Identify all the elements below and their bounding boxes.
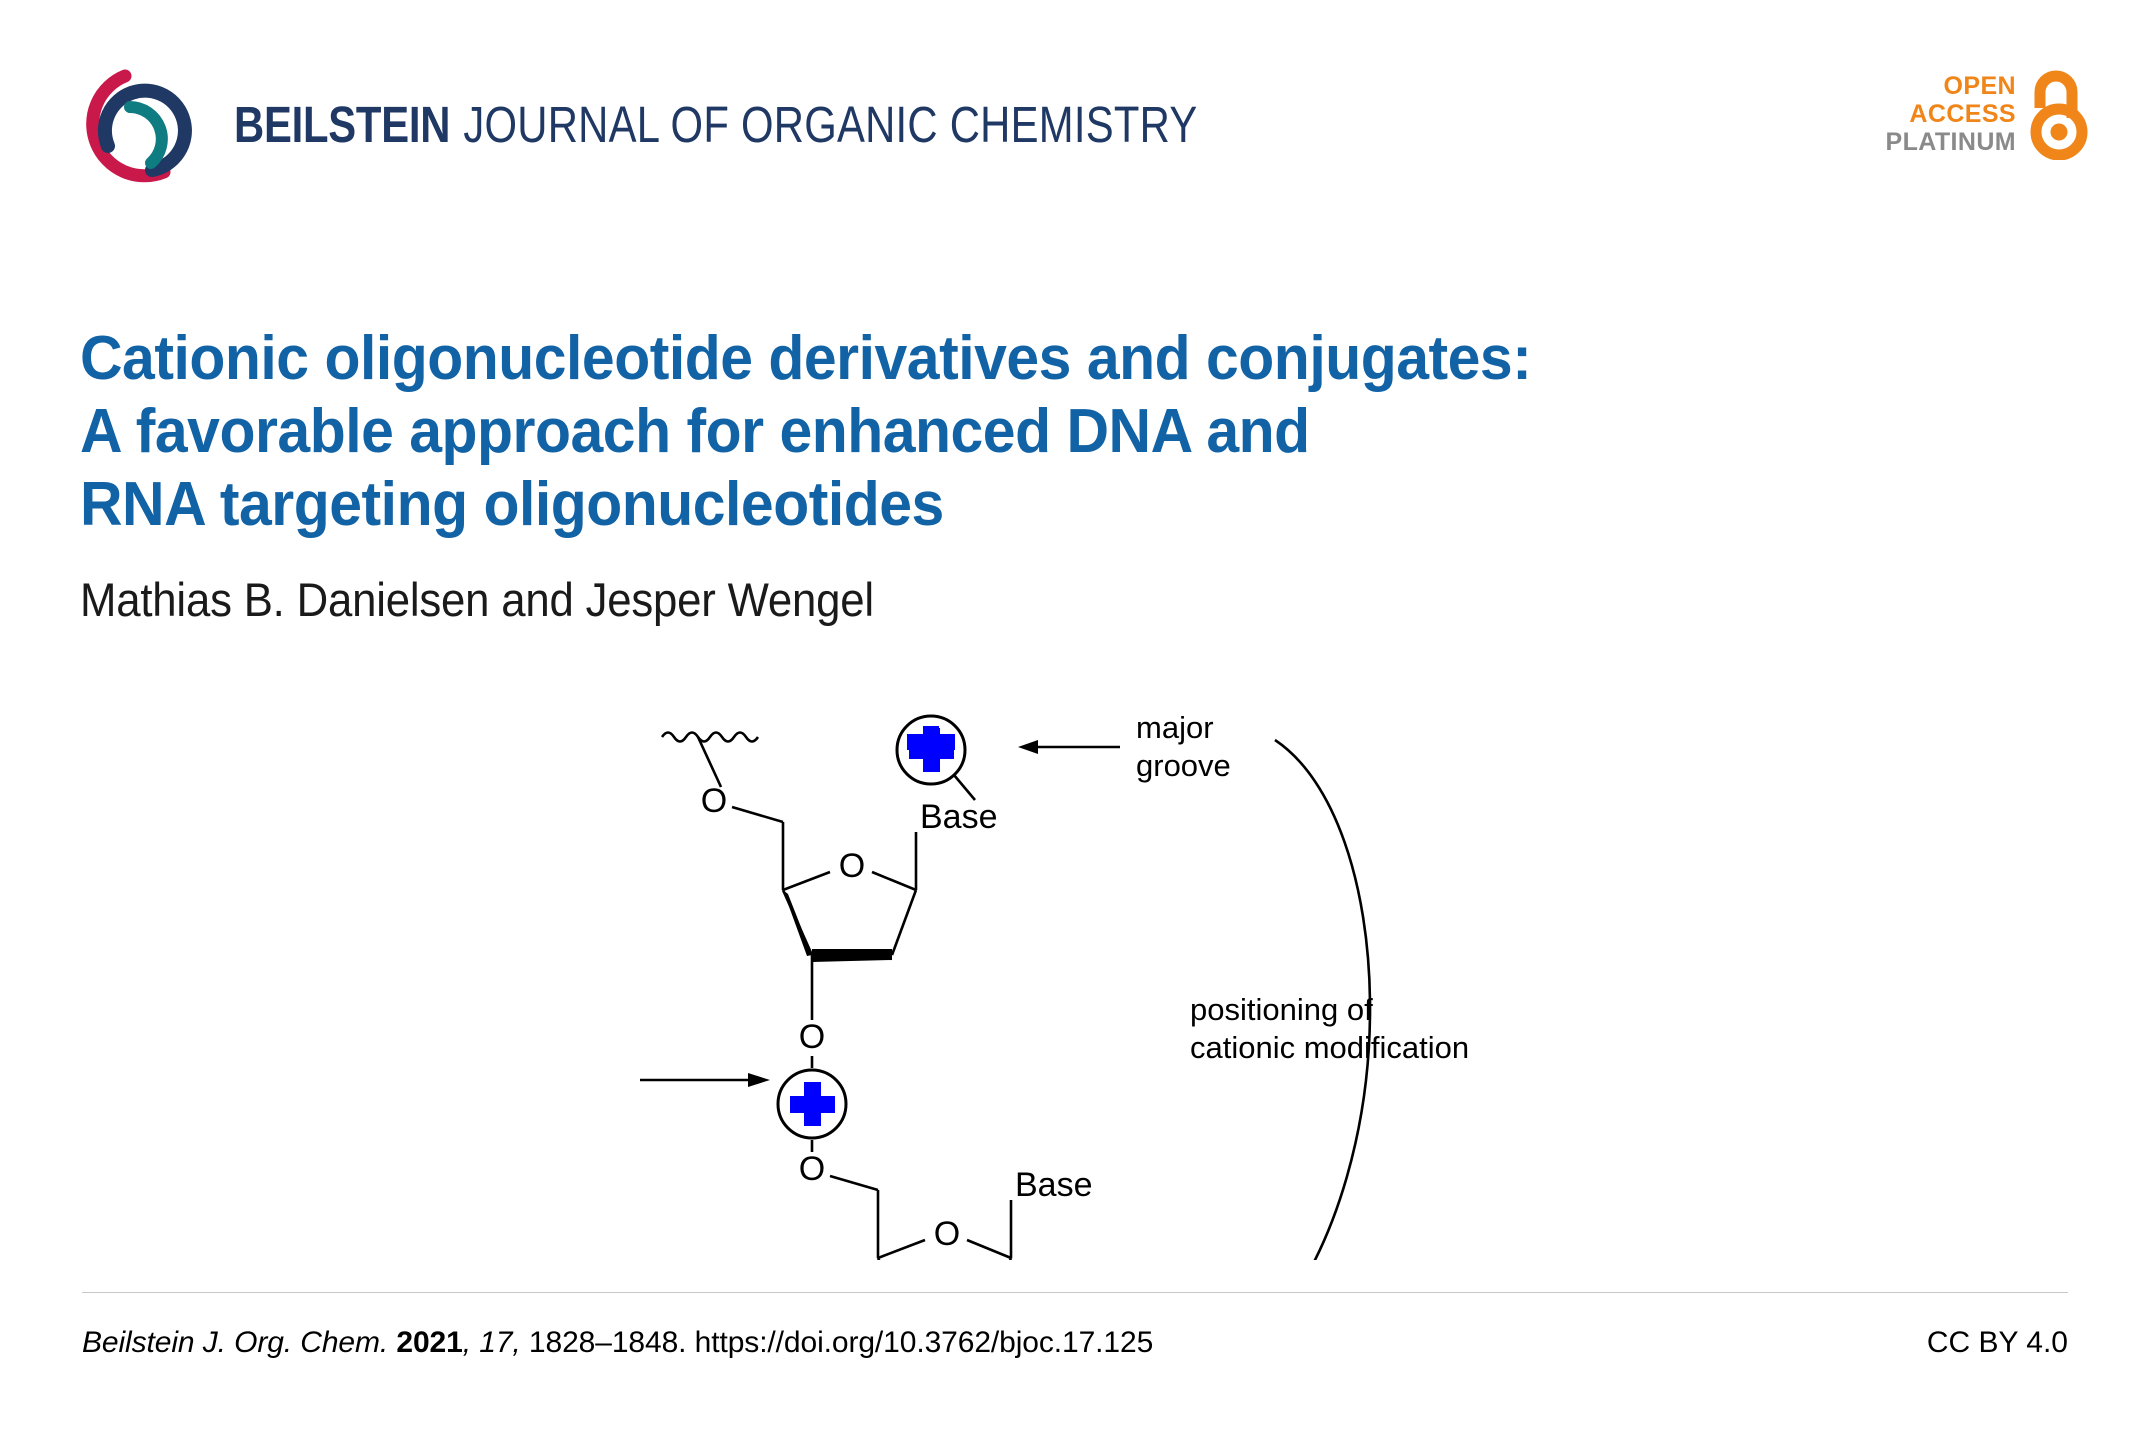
bond-c4-o4-top — [783, 872, 830, 890]
base-label-top: Base — [920, 798, 998, 836]
atom-o-ring-bottom: O — [934, 1215, 960, 1253]
title-line-2: A favorable approach for enhanced DNA an… — [80, 395, 1743, 468]
wedge-c4-c3-bottom — [878, 1258, 907, 1260]
arrowhead-major-groove — [1018, 740, 1038, 754]
wordmark-subtitle: JOURNAL OF ORGANIC CHEMISTRY — [450, 95, 1197, 154]
atom-o3prime-top: O — [799, 1018, 825, 1056]
wavy-bond-top — [662, 733, 758, 742]
bond-c1-c2-bottom — [987, 1258, 1011, 1260]
title-line-1: Cationic oligonucleotide derivatives and… — [80, 322, 1743, 395]
beilstein-spiral-logo-icon — [78, 60, 206, 188]
base-label-bottom: Base — [1015, 1166, 1093, 1204]
bond-c1-c2-top — [892, 890, 916, 955]
journal-brand[interactable]: BEILSTEIN JOURNAL OF ORGANIC CHEMISTRY — [78, 60, 1409, 188]
bold-bond-c2-c3-top — [812, 949, 892, 962]
graphical-abstract: O O Base — [620, 690, 1570, 1260]
citation-year: 2021 — [396, 1326, 462, 1359]
citation-journal: Beilstein J. Org. Chem. — [82, 1326, 388, 1359]
footer-divider — [82, 1292, 2068, 1293]
cation-marker-base-top — [897, 716, 975, 800]
label-positioning-line2: cationic modification — [1190, 1030, 1469, 1065]
label-major-groove-line2: groove — [1136, 748, 1231, 783]
annotation-cation-replaces-anion: cation replaces anion — [620, 1022, 770, 1133]
title-line-3: RNA targeting oligonucleotides — [80, 468, 1743, 541]
bond-o4-c1-bottom — [967, 1240, 1011, 1258]
arrowhead-cation-replaces — [748, 1073, 770, 1087]
annotation-positioning: positioning of cationic modification — [1190, 740, 1469, 1260]
page-title: Cationic oligonucleotide derivatives and… — [80, 322, 1743, 541]
cation-marker-backbone — [778, 1070, 846, 1138]
bond-o5-c5-top — [732, 807, 783, 822]
citation-volume: 17 — [479, 1326, 512, 1359]
bond-c4-o4-bottom — [878, 1240, 925, 1258]
annotation-major-groove: major groove — [1018, 710, 1231, 783]
oa-line-access: ACCESS — [1886, 100, 2017, 128]
author-list: Mathias B. Danielsen and Jesper Wengel — [80, 572, 874, 627]
open-access-text: OPEN ACCESS PLATINUM — [1886, 72, 2017, 156]
citation-line: Beilstein J. Org. Chem. 2021, 17, 1828–1… — [82, 1326, 1153, 1360]
bond-o4-c1-top — [872, 872, 916, 890]
label-major-groove-line1: major — [1136, 710, 1214, 745]
bond-o5-c5-bottom — [830, 1176, 878, 1190]
atom-o5prime-top: O — [701, 782, 727, 820]
masthead: BEILSTEIN JOURNAL OF ORGANIC CHEMISTRY O… — [0, 0, 2150, 200]
bond-wavy-to-o5-top — [698, 737, 721, 787]
atom-o-ring-top: O — [839, 847, 865, 885]
oa-line-open: OPEN — [1886, 72, 2017, 100]
wordmark-beilstein: BEILSTEIN — [234, 95, 450, 154]
license-label: CC BY 4.0 — [1927, 1326, 2068, 1360]
footer: Beilstein J. Org. Chem. 2021, 17, 1828–1… — [82, 1326, 2068, 1360]
oa-line-platinum: PLATINUM — [1886, 128, 2017, 156]
open-access-badge[interactable]: OPEN ACCESS PLATINUM — [1886, 68, 2093, 160]
label-positioning-line1: positioning of — [1190, 992, 1373, 1027]
wedge-c4-c3-top — [783, 890, 812, 956]
open-padlock-icon — [2030, 68, 2092, 160]
journal-wordmark: BEILSTEIN JOURNAL OF ORGANIC CHEMISTRY — [234, 95, 1197, 154]
bond-c3-c4-bottom — [878, 1258, 907, 1260]
atom-o5prime-bottom: O — [799, 1150, 825, 1188]
article-cover-page: BEILSTEIN JOURNAL OF ORGANIC CHEMISTRY O… — [0, 0, 2150, 1444]
citation-pages: 1828–1848. — [529, 1326, 687, 1359]
doi-link[interactable]: https://doi.org/10.3762/bjoc.17.125 — [695, 1326, 1154, 1359]
